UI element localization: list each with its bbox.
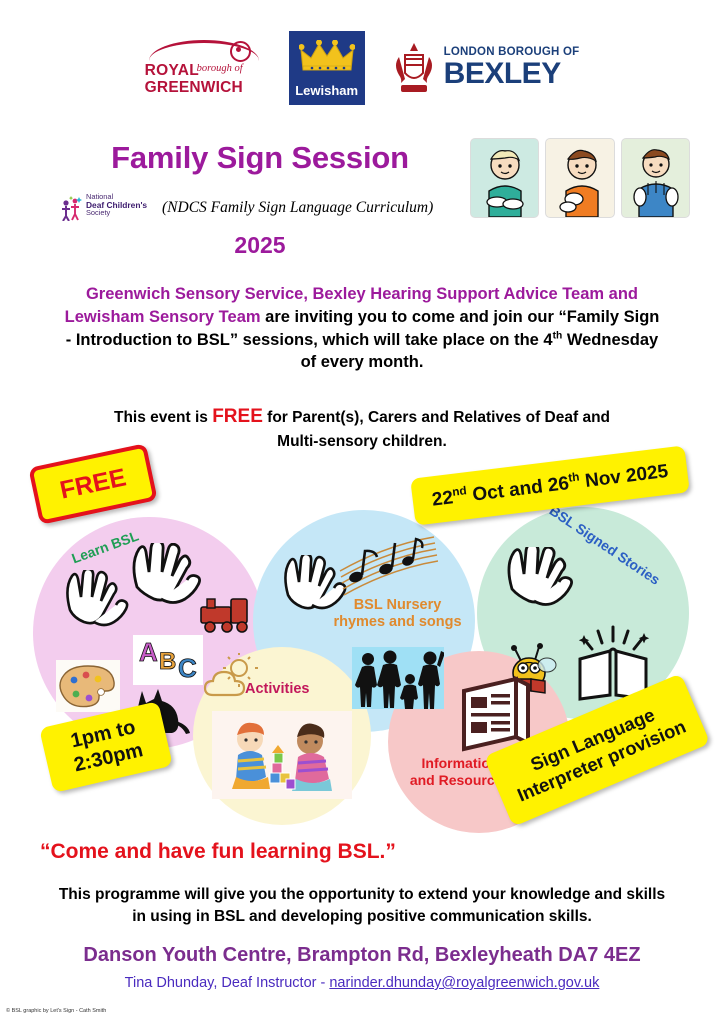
bsl-hands-icon bbox=[500, 547, 580, 617]
greenwich-borough-text: borough of bbox=[197, 63, 243, 74]
signing-photos-strip bbox=[470, 138, 690, 216]
label-activities: Activities bbox=[245, 681, 309, 697]
topics-circles-cluster: Learn BSL A B C bbox=[0, 495, 724, 840]
bexley-crest-icon bbox=[391, 39, 437, 97]
nursery-line1: BSL Nursery bbox=[354, 597, 442, 613]
ndcs-logo: National Deaf Children's Society bbox=[60, 193, 158, 223]
nursery-line2: rhymes and songs bbox=[333, 614, 461, 630]
paint-palette-icon bbox=[56, 660, 120, 712]
lewisham-council-logo: Lewisham bbox=[289, 31, 365, 105]
svg-text:B: B bbox=[159, 648, 176, 675]
greenwich-name-text: GREENWICH bbox=[145, 79, 243, 97]
bexley-text-block: LONDON BOROUGH OF BEXLEY bbox=[444, 47, 580, 90]
free-note-before: This event is bbox=[114, 409, 212, 426]
bsl-hands-icon bbox=[60, 570, 134, 636]
programme-description: This programme will give you the opportu… bbox=[52, 884, 672, 929]
london-borough-bexley-logo: LONDON BOROUGH OF BEXLEY bbox=[391, 36, 580, 100]
ndcs-people-icon bbox=[60, 195, 84, 221]
train-icon bbox=[197, 591, 255, 633]
lewisham-name-text: Lewisham bbox=[295, 83, 358, 105]
ndcs-curriculum-row: National Deaf Children's Society (NDCS F… bbox=[60, 193, 460, 223]
poster-canvas: ROYAL borough of GREENWICH Lewisham bbox=[0, 0, 724, 1024]
greenwich-royal-text: ROYAL bbox=[145, 62, 199, 80]
children-playing-blocks-icon bbox=[212, 711, 352, 799]
ndcs-wordmark: National Deaf Children's Society bbox=[86, 193, 147, 217]
svg-text:A: A bbox=[139, 637, 158, 667]
child-signing-blue-photo bbox=[621, 138, 690, 218]
fun-quote: “Come and have fun learning BSL.” bbox=[40, 840, 396, 864]
free-note-paragraph: This event is FREE for Parent(s), Carers… bbox=[112, 404, 612, 453]
venue-address: Danson Youth Centre, Brampton Rd, Bexley… bbox=[32, 944, 692, 967]
free-keyword: FREE bbox=[212, 406, 263, 427]
graphic-credit: © BSL graphic by Let's Sign - Cath Smith bbox=[6, 1008, 106, 1014]
page-title: Family Sign Session bbox=[60, 140, 460, 176]
svg-text:C: C bbox=[178, 653, 197, 683]
intro-superscript: th bbox=[553, 330, 563, 341]
contact-line: Tina Dhunday, Deaf Instructor - narinder… bbox=[32, 975, 692, 991]
contact-email-link[interactable]: narinder.dhunday@royalgreenwich.gov.uk bbox=[329, 975, 599, 991]
royal-borough-greenwich-logo: ROYAL borough of GREENWICH bbox=[145, 36, 263, 100]
free-note-after: for Parent(s), Carers and Relatives of D… bbox=[263, 409, 610, 450]
label-bsl-nursery-line1: BSL Nursery rhymes and songs bbox=[330, 597, 465, 632]
crown-icon bbox=[299, 40, 355, 74]
child-signing-teal-photo bbox=[470, 138, 539, 218]
child-signing-orange-photo bbox=[545, 138, 614, 218]
council-logos-row: ROYAL borough of GREENWICH Lewisham bbox=[0, 28, 724, 108]
family-silhouette-icon bbox=[352, 647, 444, 709]
contact-name: Tina Dhunday, Deaf Instructor - bbox=[125, 975, 330, 991]
abc-blocks-icon: A B C bbox=[133, 635, 203, 685]
greenwich-rose-icon bbox=[230, 41, 251, 62]
bexley-line2: BEXLEY bbox=[444, 59, 580, 89]
music-notes-icon bbox=[338, 533, 438, 599]
curriculum-subtitle: (NDCS Family Sign Language Curriculum) bbox=[162, 199, 433, 217]
intro-paragraph: Greenwich Sensory Service, Bexley Hearin… bbox=[62, 283, 662, 374]
badge-time-text: 1pm to2:30pm bbox=[67, 716, 146, 778]
year-text: 2025 bbox=[60, 232, 460, 259]
ndcs-line3: Society bbox=[86, 209, 147, 217]
